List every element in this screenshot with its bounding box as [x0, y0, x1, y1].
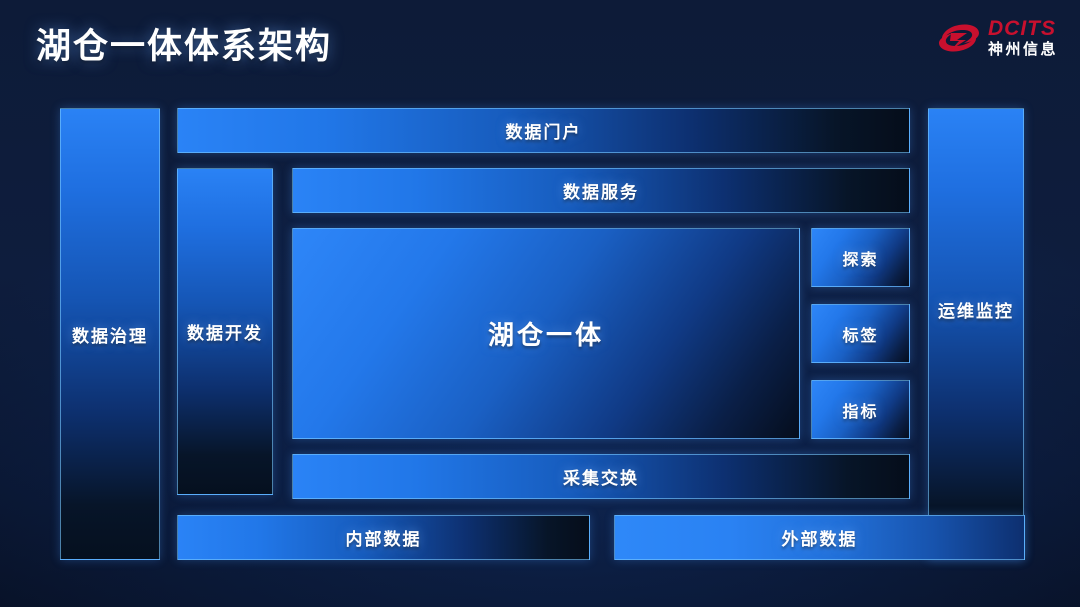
core-lakehouse[interactable]: 湖仓一体: [292, 228, 800, 439]
bar-collect-exchange-label: 采集交换: [563, 464, 639, 489]
box-metric-label: 指标: [842, 398, 878, 422]
bar-data-portal-label: 数据门户: [506, 118, 582, 143]
box-explore[interactable]: 探索: [811, 228, 910, 287]
slide-canvas: 湖仓一体体系架构 DCITS 神州信息 数据治理 数据开发 运维监控 数据门户 …: [0, 0, 1080, 607]
bar-internal-data[interactable]: 内部数据: [177, 515, 590, 560]
bar-external-data[interactable]: 外部数据: [614, 515, 1025, 560]
box-metric[interactable]: 指标: [811, 380, 910, 439]
brand-text: DCITS 神州信息: [988, 18, 1058, 57]
column-data-governance-label: 数据治理: [72, 322, 148, 347]
core-lakehouse-label: 湖仓一体: [488, 315, 604, 352]
brand-logo: DCITS 神州信息: [937, 18, 1058, 57]
column-ops-monitoring[interactable]: 运维监控: [928, 108, 1024, 560]
box-tag[interactable]: 标签: [811, 304, 910, 363]
page-title: 湖仓一体体系架构: [36, 18, 332, 69]
bar-collect-exchange[interactable]: 采集交换: [292, 454, 910, 499]
dcits-swirl-icon: [937, 20, 981, 56]
bar-data-portal[interactable]: 数据门户: [177, 108, 910, 153]
bar-external-data-label: 外部数据: [782, 525, 858, 550]
box-explore-label: 探索: [842, 246, 878, 270]
bar-data-service-label: 数据服务: [563, 178, 639, 203]
column-data-development-label: 数据开发: [187, 319, 263, 344]
column-ops-monitoring-label: 运维监控: [938, 297, 1014, 322]
column-data-development[interactable]: 数据开发: [177, 168, 273, 495]
bar-internal-data-label: 内部数据: [346, 525, 422, 550]
brand-name-cn: 神州信息: [988, 42, 1058, 57]
column-data-governance[interactable]: 数据治理: [60, 108, 160, 560]
brand-name: DCITS: [988, 18, 1058, 39]
box-tag-label: 标签: [842, 322, 878, 346]
bar-data-service[interactable]: 数据服务: [292, 168, 910, 213]
